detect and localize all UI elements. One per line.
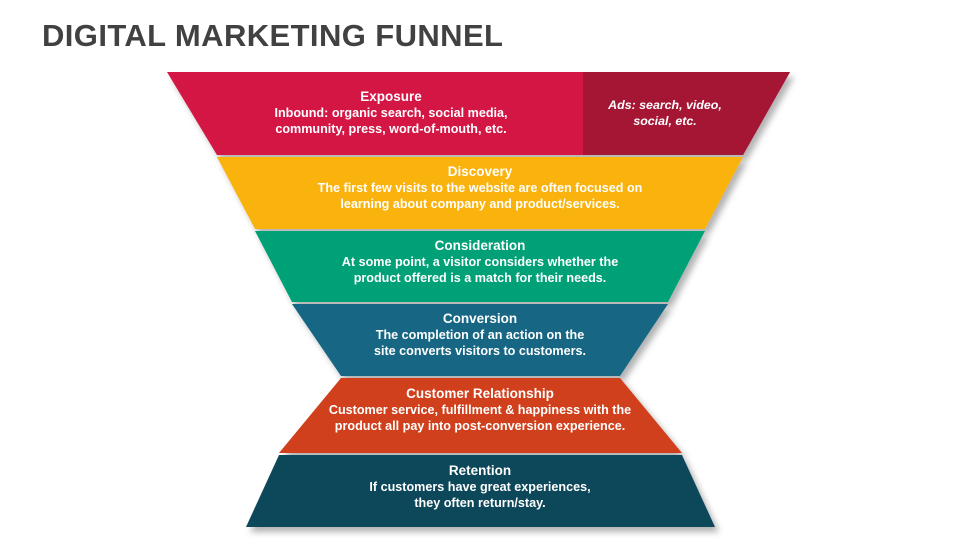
funnel-band-discovery-shape[interactable] [217, 157, 743, 229]
funnel-band-discovery[interactable] [217, 157, 743, 229]
funnel-band-retention-shape[interactable] [246, 455, 715, 527]
funnel-band-conversion[interactable] [292, 304, 668, 376]
funnel-band-consideration[interactable] [255, 231, 705, 302]
slide-canvas: DIGITAL MARKETING FUNNEL [0, 0, 960, 540]
funnel-band-retention[interactable] [246, 455, 715, 527]
funnel-band-exposure-ads-panel[interactable] [583, 72, 790, 155]
funnel-band-customer-relationship[interactable] [279, 378, 682, 453]
funnel-band-exposure[interactable] [167, 72, 790, 155]
funnel-diagram [0, 0, 960, 540]
funnel-band-conversion-shape[interactable] [292, 304, 668, 376]
funnel-band-customer-relationship-shape[interactable] [279, 378, 682, 453]
funnel-band-consideration-shape[interactable] [255, 231, 705, 302]
